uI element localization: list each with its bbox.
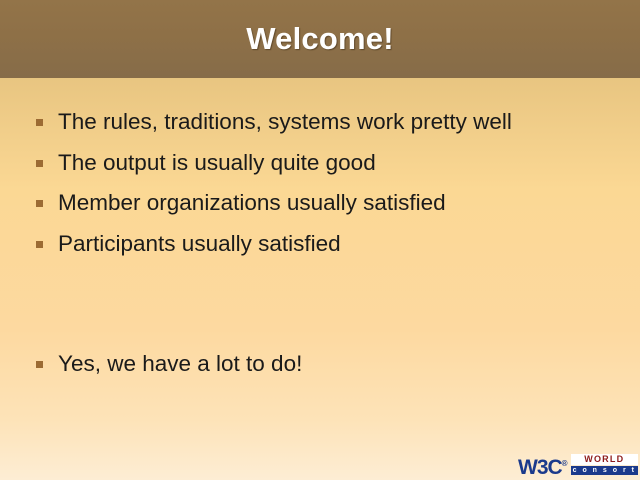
slide-header-band: Welcome! <box>0 0 640 78</box>
list-item-label: Member organizations usually satisfied <box>58 189 616 217</box>
square-bullet-icon <box>36 119 43 126</box>
w3c-logo-line2: c o n s o r t i u m <box>571 466 638 475</box>
list-item: The output is usually quite good <box>36 149 616 190</box>
registered-trademark-icon: ® <box>562 459 568 468</box>
w3c-logo-words: WORLD WIDE WEB c o n s o r t i u m <box>571 454 638 475</box>
square-bullet-icon <box>36 361 43 368</box>
list-item-label: Participants usually satisfied <box>58 230 616 258</box>
list-item-label: The output is usually quite good <box>58 149 616 177</box>
list-item-label: The rules, traditions, systems work pret… <box>58 108 616 136</box>
slide-canvas: Welcome! The rules, traditions, systems … <box>0 0 640 480</box>
w3c-wordmark-text: W3C <box>518 456 562 479</box>
square-bullet-icon <box>36 241 43 248</box>
slide-title: Welcome! <box>0 0 640 78</box>
list-spacer <box>36 310 616 350</box>
list-item: Member organizations usually satisfied <box>36 189 616 230</box>
w3c-wordmark-icon: W3C® <box>518 453 568 478</box>
list-item: The rules, traditions, systems work pret… <box>36 108 616 149</box>
w3c-logo-line1: WORLD WIDE WEB <box>571 454 638 465</box>
square-bullet-icon <box>36 200 43 207</box>
list-item: Participants usually satisfied <box>36 230 616 271</box>
list-item: Yes, we have a lot to do! <box>36 350 616 391</box>
square-bullet-icon <box>36 160 43 167</box>
list-spacer <box>36 270 616 310</box>
bullet-list: The rules, traditions, systems work pret… <box>36 108 616 391</box>
w3c-logo: W3C® WORLD WIDE WEB c o n s o r t i u m <box>518 452 638 477</box>
list-item-label: Yes, we have a lot to do! <box>58 350 616 378</box>
